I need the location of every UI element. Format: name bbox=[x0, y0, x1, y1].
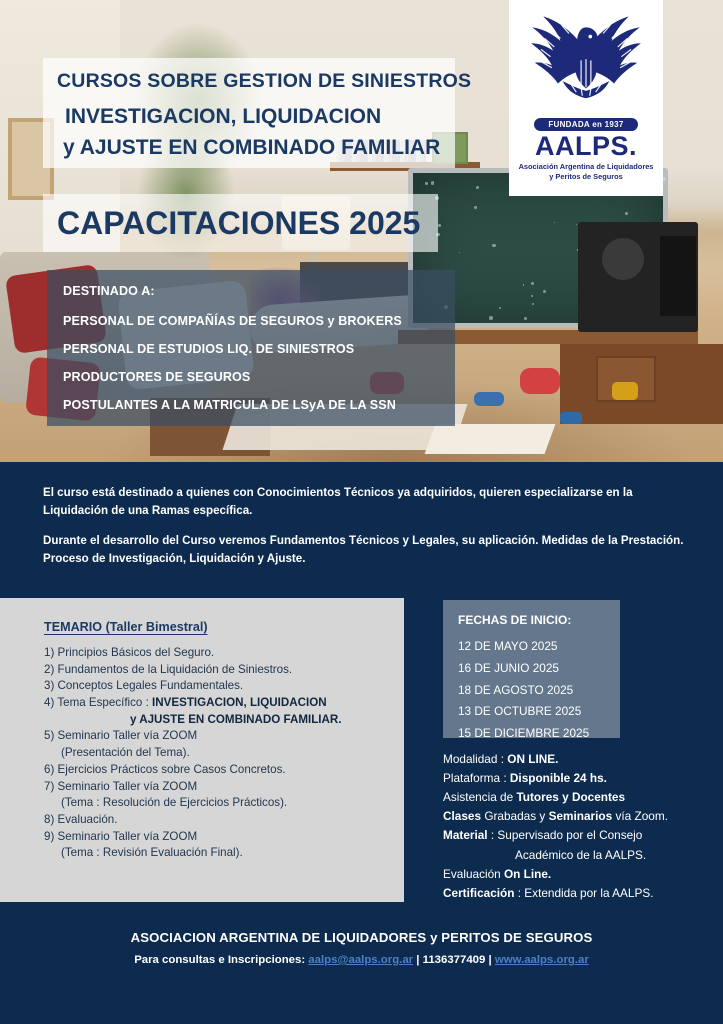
temario-item-9: 9) Seminario Taller vía ZOOM bbox=[44, 829, 404, 846]
footer-contact-prefix: Para consultas e Inscripciones: bbox=[134, 954, 308, 966]
detail-modalidad: Modalidad : ON LINE. bbox=[443, 750, 713, 769]
photo-tv-sparkle bbox=[499, 307, 501, 309]
temario-panel: TEMARIO (Taller Bimestral) 1) Principios… bbox=[0, 598, 404, 902]
photo-tv-sparkle bbox=[476, 186, 479, 189]
footer-separator-1: | bbox=[413, 954, 423, 966]
detail-modalidad-value: ON LINE. bbox=[507, 752, 558, 766]
temario-item-4-topic-cont: y AJUSTE EN COMBINADO FAMILIAR. bbox=[44, 712, 404, 729]
photo-tv-sparkle bbox=[576, 224, 577, 225]
detail-plataforma-value: Disponible 24 hs. bbox=[510, 771, 607, 785]
intro-paragraph-2: Durante el desarrollo del Curso veremos … bbox=[43, 532, 693, 568]
photo-tv-sparkle bbox=[524, 317, 527, 320]
photo-tv-sparkle bbox=[543, 290, 546, 293]
photo-toy-2 bbox=[520, 368, 560, 394]
detail-asistencia-label: Asistencia de bbox=[443, 790, 516, 804]
detail-modalidad-label: Modalidad : bbox=[443, 752, 507, 766]
page-title: CURSOS SOBRE GESTION DE SINIESTROS bbox=[57, 70, 441, 93]
temario-item-7: 7) Seminario Taller vía ZOOM bbox=[44, 779, 404, 796]
temario-item-2: 2) Fundamentos de la Liquidación de Sini… bbox=[44, 662, 404, 679]
capacitaciones-block: CAPACITACIONES 2025 bbox=[43, 194, 438, 252]
subtitle-line-1: INVESTIGACION, LIQUIDACION bbox=[57, 105, 441, 129]
photo-tv-sparkle bbox=[431, 181, 435, 185]
footer-contact-line: Para consultas e Inscripciones: aalps@aa… bbox=[0, 954, 723, 966]
photo-tv-sparkle bbox=[554, 222, 555, 223]
temario-item-5: 5) Seminario Taller vía ZOOM bbox=[44, 728, 404, 745]
audience-panel: DESTINADO A: PERSONAL DE COMPAÑÍAS DE SE… bbox=[47, 270, 455, 426]
detail-certificacion: Certificación : Extendida por la AALPS. bbox=[443, 884, 713, 903]
photo-tv-sparkle bbox=[625, 212, 628, 215]
start-dates-panel: FECHAS DE INICIO: 12 DE MAYO 2025 16 DE … bbox=[443, 600, 620, 738]
photo-stereo-tower bbox=[660, 236, 696, 316]
photo-tv-sparkle bbox=[531, 282, 534, 285]
subtitle-line-2: y AJUSTE EN COMBINADO FAMILIAR bbox=[57, 136, 441, 160]
temario-item-5-note: (Presentación del Tema). bbox=[44, 745, 404, 762]
poster-root: CURSOS SOBRE GESTION DE SINIESTROS INVES… bbox=[0, 0, 723, 1024]
start-date-1: 12 DE MAYO 2025 bbox=[458, 636, 620, 658]
audience-item-4: POSTULANTES A LA MATRICULA DE LSyA DE LA… bbox=[63, 398, 455, 412]
detail-clases: Clases Grabadas y Seminarios vía Zoom. bbox=[443, 807, 713, 826]
detail-clases-label: Clases bbox=[443, 809, 481, 823]
logo-founded-banner: FUNDADA en 1937 bbox=[534, 118, 637, 131]
photo-tv-sparkle bbox=[489, 316, 493, 320]
photo-tv-sparkle bbox=[459, 252, 460, 253]
temario-item-4-topic: INVESTIGACION, LIQUIDACION bbox=[152, 696, 327, 709]
poster-title-block: CURSOS SOBRE GESTION DE SINIESTROS INVES… bbox=[43, 58, 455, 168]
detail-certificacion-value: : Extendida por la AALPS. bbox=[514, 886, 653, 900]
footer: ASOCIACION ARGENTINA DE LIQUIDADORES y P… bbox=[0, 902, 723, 1024]
logo-acronym: AALPS. bbox=[535, 132, 637, 160]
temario-title: TEMARIO (Taller Bimestral) bbox=[44, 620, 404, 634]
start-dates-title: FECHAS DE INICIO: bbox=[458, 613, 620, 627]
intro-text: El curso está destinado a quienes con Co… bbox=[43, 484, 693, 568]
logo-subtitle: Asociación Argentina de Liquidadores y P… bbox=[519, 162, 654, 182]
logo-subtitle-line-1: Asociación Argentina de Liquidadores bbox=[519, 162, 654, 171]
start-date-5: 15 DE DICIEMBRE 2025 bbox=[458, 723, 620, 745]
audience-item-2: PERSONAL DE ESTUDIOS LIQ. DE SINIESTROS bbox=[63, 342, 455, 356]
photo-toy-3 bbox=[474, 392, 504, 406]
audience-item-1: PERSONAL DE COMPAÑÍAS DE SEGUROS y BROKE… bbox=[63, 314, 455, 328]
temario-item-8: 8) Evaluación. bbox=[44, 812, 404, 829]
detail-plataforma-label: Plataforma : bbox=[443, 771, 510, 785]
footer-website-link[interactable]: www.aalps.org.ar bbox=[495, 954, 589, 966]
photo-floor-paper bbox=[425, 424, 556, 454]
photo-tv-sparkle bbox=[425, 182, 428, 185]
photo-stereo-speaker bbox=[602, 238, 644, 280]
photo-tv-sparkle bbox=[663, 177, 667, 181]
detail-material-value: : Supervisado por el Consejo bbox=[488, 828, 643, 842]
temario-item-1: 1) Principios Básicos del Seguro. bbox=[44, 645, 404, 662]
body-section: El curso está destinado a quienes con Co… bbox=[0, 462, 723, 1024]
start-date-3: 18 DE AGOSTO 2025 bbox=[458, 680, 620, 702]
eagle-icon bbox=[525, 8, 647, 120]
photo-tv-sparkle bbox=[532, 303, 534, 305]
capacitaciones-heading: CAPACITACIONES 2025 bbox=[57, 205, 420, 242]
audience-heading: DESTINADO A: bbox=[63, 284, 455, 298]
photo-tv-sparkle bbox=[531, 295, 533, 297]
logo-subtitle-line-2: y Peritos de Seguros bbox=[549, 172, 623, 181]
footer-organization: ASOCIACION ARGENTINA DE LIQUIDADORES y P… bbox=[0, 930, 723, 945]
footer-email-link[interactable]: aalps@aalps.org.ar bbox=[308, 954, 413, 966]
hero-photo-section: CURSOS SOBRE GESTION DE SINIESTROS INVES… bbox=[0, 0, 723, 462]
detail-evaluacion: Evaluación On Line. bbox=[443, 865, 713, 884]
detail-material: Material : Supervisado por el Consejo bbox=[443, 826, 713, 845]
detail-certificacion-label: Certificación bbox=[443, 886, 514, 900]
detail-material-cont: Académico de la AALPS. bbox=[443, 846, 713, 865]
detail-material-label: Material bbox=[443, 828, 488, 842]
temario-item-4: 4) Tema Específico : INVESTIGACION, LIQU… bbox=[44, 695, 404, 712]
detail-evaluacion-label: Evaluación bbox=[443, 867, 504, 881]
detail-clases-mid: Grabadas y bbox=[481, 809, 549, 823]
footer-separator-2: | bbox=[485, 954, 495, 966]
temario-item-3: 3) Conceptos Legales Fundamentales. bbox=[44, 678, 404, 695]
temario-item-7-note: (Tema : Resolución de Ejercicios Práctic… bbox=[44, 795, 404, 812]
detail-seminarios-label: Seminarios bbox=[549, 809, 613, 823]
intro-paragraph-1: El curso está destinado a quienes con Co… bbox=[43, 484, 693, 520]
footer-phone[interactable]: 1136377409 bbox=[423, 954, 486, 966]
detail-asistencia: Asistencia de Tutores y Docentes bbox=[443, 788, 713, 807]
detail-clases-end: vía Zoom. bbox=[612, 809, 668, 823]
course-details-list: Modalidad : ON LINE. Plataforma : Dispon… bbox=[443, 750, 713, 903]
temario-item-4-label: 4) Tema Específico : bbox=[44, 696, 152, 709]
photo-tv-sparkle bbox=[523, 284, 524, 285]
photo-toy-4 bbox=[612, 382, 638, 400]
aalps-logo-card: FUNDADA en 1937 AALPS. Asociación Argent… bbox=[509, 0, 663, 196]
temario-item-6: 6) Ejercicios Prácticos sobre Casos Conc… bbox=[44, 762, 404, 779]
detail-asistencia-value: Tutores y Docentes bbox=[516, 790, 625, 804]
detail-evaluacion-value: On Line. bbox=[504, 867, 551, 881]
start-date-2: 16 DE JUNIO 2025 bbox=[458, 658, 620, 680]
start-date-4: 13 DE OCTUBRE 2025 bbox=[458, 701, 620, 723]
photo-tv-sparkle bbox=[474, 206, 477, 209]
temario-item-9-note: (Tema : Revisión Evaluación Final). bbox=[44, 845, 404, 862]
photo-toy-5 bbox=[560, 412, 582, 424]
photo-tv-sparkle bbox=[492, 244, 496, 248]
detail-plataforma: Plataforma : Disponible 24 hs. bbox=[443, 769, 713, 788]
audience-item-3: PRODUCTORES DE SEGUROS bbox=[63, 370, 455, 384]
photo-tv-sparkle bbox=[438, 224, 441, 227]
